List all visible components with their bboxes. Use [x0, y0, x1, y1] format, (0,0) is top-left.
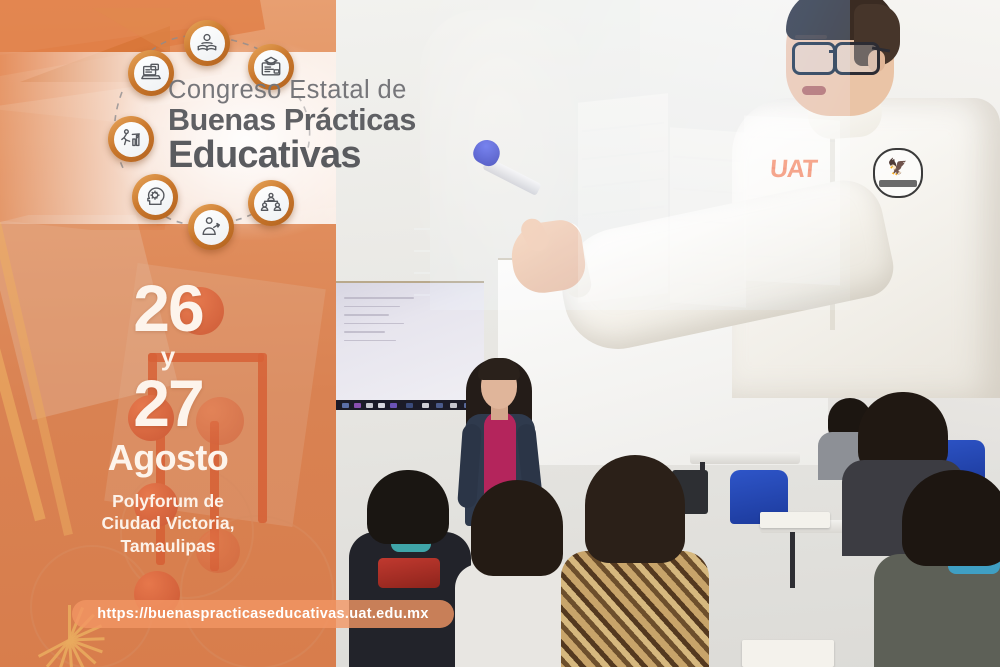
projected-document-lines: [344, 297, 414, 371]
desk: [690, 452, 800, 464]
red-pencil-case: [378, 558, 440, 588]
title-line-3: Educativas: [168, 136, 468, 175]
blue-building-overlay: [430, 0, 850, 310]
presenter-person-icon: [188, 204, 234, 250]
venue-line-3: Tamaulipas: [0, 535, 336, 557]
head-gears-icon: [132, 174, 178, 220]
venue-line-1: Polyforum de: [0, 490, 336, 512]
date-month: Agosto: [0, 440, 336, 476]
notebook: [742, 640, 834, 667]
student: [565, 455, 705, 667]
team-group-icon: [248, 180, 294, 226]
date-day-first: 26: [0, 278, 336, 339]
event-poster: UAT 🦅: [0, 0, 1000, 667]
website-url-pill[interactable]: https://buenaspracticaseducativas.uat.ed…: [72, 600, 454, 628]
person-book-icon: [184, 20, 230, 66]
date-day-second: 27: [0, 373, 336, 434]
title-line-1: Congreso Estatal de: [168, 78, 468, 104]
venue-address: Polyforum de Ciudad Victoria, Tamaulipas: [0, 490, 336, 557]
venue-line-2: Ciudad Victoria,: [0, 512, 336, 534]
title-line-2: Buenas Prácticas: [168, 104, 468, 137]
university-crest-icon: 🦅: [873, 148, 923, 198]
website-url-text[interactable]: https://buenaspracticaseducativas.uat.ed…: [97, 606, 429, 622]
page-title: Congreso Estatal de Buenas Prácticas Edu…: [168, 78, 468, 175]
student: [880, 470, 1000, 667]
growth-chart-person-icon: [108, 116, 154, 162]
event-date-block: 26 y 27 Agosto Polyforum de Ciudad Victo…: [0, 278, 336, 557]
notebook: [760, 512, 830, 528]
